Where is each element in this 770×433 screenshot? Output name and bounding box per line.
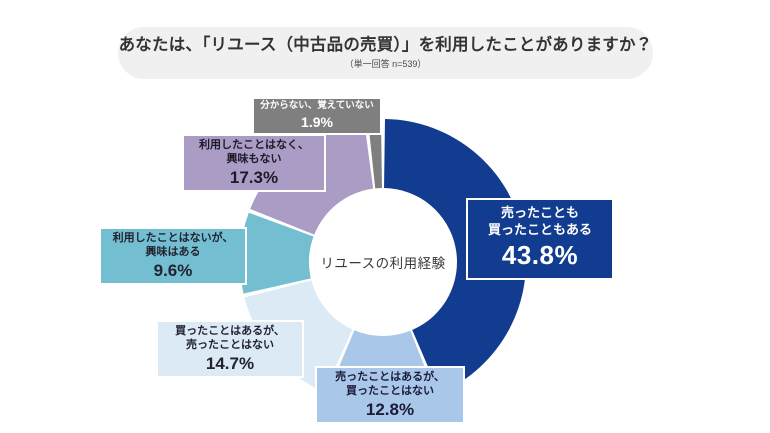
slice-label-interested-line2: 興味はある <box>146 245 201 259</box>
slice-label-sold-only-line1: 売ったことはあるが、 <box>335 370 445 384</box>
slice-label-bought-only-line1: 買ったことはあるが、 <box>175 324 285 338</box>
slice-percent-not-interested: 17.3% <box>230 167 278 189</box>
slice-label-both-line2: 買ったこともある <box>488 222 592 239</box>
slice-label-not-interested[interactable]: 利用したことはなく、 興味もない 17.3% <box>182 134 326 192</box>
slice-label-not-interested-line1: 利用したことはなく、 <box>199 138 309 152</box>
slice-label-sold-only[interactable]: 売ったことはあるが、 買ったことはない 12.8% <box>315 366 465 424</box>
chart-title-banner: あなたは、「リユース（中古品の売買）」を利用したことがありますか？ （単一回答 … <box>118 27 653 79</box>
chart-canvas: あなたは、「リユース（中古品の売買）」を利用したことがありますか？ （単一回答 … <box>0 0 770 433</box>
slice-label-interested[interactable]: 利用したことはないが、 興味はある 9.6% <box>99 227 247 285</box>
slice-label-bought-only[interactable]: 買ったことはあるが、 売ったことはない 14.7% <box>156 320 304 378</box>
slice-label-bought-only-line2: 売ったことはない <box>186 338 274 352</box>
slice-percent-bought-only: 14.7% <box>206 353 254 375</box>
slice-label-both-line1: 売ったことも <box>501 205 579 222</box>
chart-subtitle: （単一回答 n=539） <box>345 57 427 70</box>
slice-percent-both: 43.8% <box>502 239 578 272</box>
slice-label-interested-line1: 利用したことはないが、 <box>113 231 234 245</box>
slice-label-unknown-line1: 分からない、覚えていない <box>260 100 374 112</box>
slice-percent-sold-only: 12.8% <box>366 399 414 421</box>
slice-percent-unknown: 1.9% <box>301 114 333 132</box>
slice-label-unknown[interactable]: 分からない、覚えていない 1.9% <box>252 97 382 135</box>
slice-label-not-interested-line2: 興味もない <box>227 152 282 166</box>
slice-label-sold-only-line2: 買ったことはない <box>346 384 434 398</box>
slice-label-both[interactable]: 売ったことも 買ったこともある 43.8% <box>466 198 614 280</box>
page-title: あなたは、「リユース（中古品の売買）」を利用したことがありますか？ <box>119 36 653 55</box>
slice-percent-interested: 9.6% <box>154 260 193 282</box>
